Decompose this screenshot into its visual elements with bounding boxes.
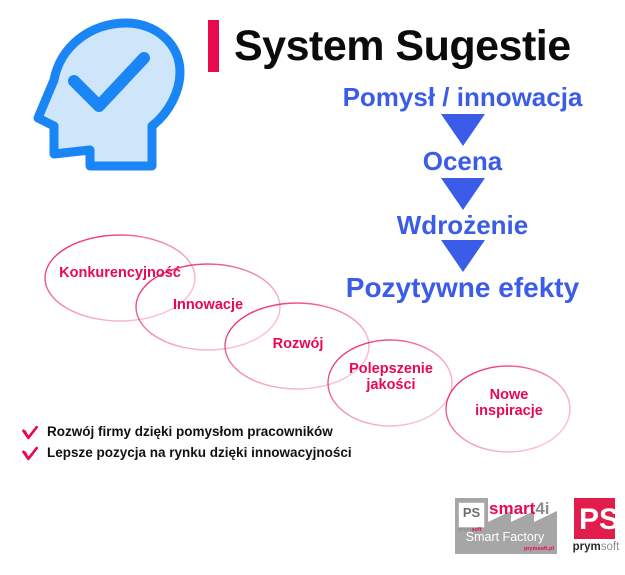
arrow-down-icon [441,240,485,272]
smart4i-wordmark: smart4i [489,500,550,517]
bubble-ellipse [45,235,195,321]
arrow-down-icon [441,178,485,210]
smart4i-smart-word: smart [489,499,535,518]
logo-strip: PS prymsoft smart4i Smart Factory prymso… [455,498,622,554]
prymsoft-word-bold: prym [573,541,601,553]
smart4i-factory-label: Smart Factory [455,531,555,544]
bubble-label-2: Innowacje [130,297,286,313]
bubble-ellipse [136,264,280,350]
list-item-label: Rozwój firmy dzięki pomysłom pracowników [47,424,333,440]
smart4i-4i-word: 4i [535,499,549,518]
bubble-label-1: Konkurencyjność [38,265,202,281]
list-item-label: Lepsze pozycja na rynku dzięki innowacyj… [47,445,352,461]
bubble-ellipse [225,303,369,389]
prymsoft-ps-mark: PS [574,498,615,539]
bubble-label-3: Rozwój [220,336,376,352]
smart4i-ps-mark: PS [458,502,485,528]
poster-canvas: System Sugestie Pomysł / innowacja Ocena… [0,0,625,575]
flow-step-4: Pozytywne efekty [300,274,625,302]
list-item: Lepsze pozycja na rynku dzięki innowacyj… [22,445,452,462]
prymsoft-wordmark: prymsoft [570,542,622,554]
title-accent-bar [208,20,219,72]
page-title: System Sugestie [208,18,571,74]
check-icon [22,446,38,462]
prymsoft-word-light: soft [601,541,620,553]
check-icon [22,425,38,441]
flow-step-2: Ocena [300,148,625,174]
benefit-list: Rozwój firmy dzięki pomysłom pracowników… [22,424,452,466]
process-flow: Pomysł / innowacja Ocena Wdrożenie Pozyt… [300,84,625,314]
bubble-ellipse [446,366,570,452]
svg-text:PS: PS [579,503,615,536]
prymsoft-logo: PS prymsoft [570,498,622,554]
title-text: System Sugestie [234,25,571,68]
prymsoft-ps-glyph: PS [574,498,615,539]
flow-step-3: Wdrożenie [300,212,625,238]
list-item: Rozwój firmy dzięki pomysłom pracowników [22,424,452,441]
flow-step-1: Pomysł / innowacja [300,84,625,110]
smart4i-url: prymsoft.pl [524,547,554,553]
arrow-down-icon [441,114,485,146]
smart4i-logo: PS prymsoft smart4i Smart Factory prymso… [455,498,557,554]
bubble-label-4: Polepszenie jakości [330,361,452,393]
bubble-label-5: Nowe inspiracje [448,387,570,419]
bubble-ellipse [328,340,452,426]
smart4i-ps-text: PS [459,506,484,519]
head-check-icon [30,14,190,174]
